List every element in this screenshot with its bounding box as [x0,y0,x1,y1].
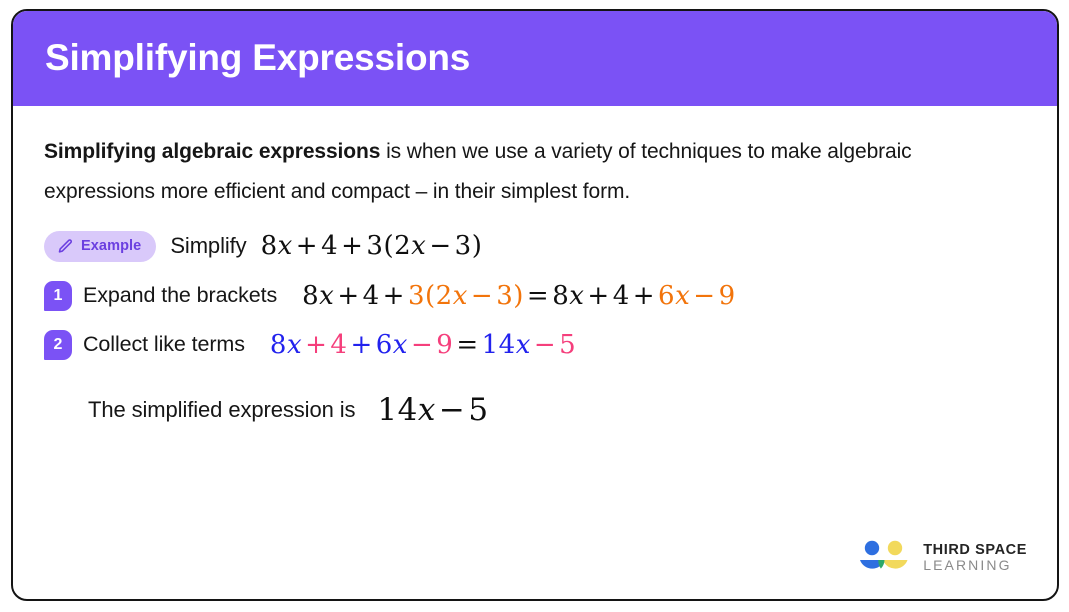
tok: x [287,330,302,360]
example-badge: Example [44,231,156,262]
tok: + [338,231,366,261]
tok: 8 [261,231,278,261]
tok: 3 [366,231,383,261]
logo-line-1: THIRD SPACE [923,542,1027,558]
tok: ( [383,231,394,261]
tok: 14 [482,330,516,360]
page-title: Simplifying Expressions [45,38,470,79]
conclusion-result: 14x−5 [377,392,488,428]
step-badge-2: 2 [44,330,72,360]
tok: 5 [468,392,488,428]
tok: − [468,281,496,311]
step-equation-1: 8x+4+3(2x−3)=8x+4+6x−9 [302,281,736,311]
tok: = [453,330,481,360]
example-prompt-label: Simplify [170,233,246,259]
tok: 3 [408,281,425,311]
conclusion-row: The simplified expression is 14x−5 [44,392,1027,428]
card-header: Simplifying Expressions [13,11,1057,106]
tok: x [516,330,531,360]
tok: x [675,281,690,311]
page-root: Simplifying Expressions Simplifying alge… [0,0,1069,612]
tok: + [302,330,330,360]
tok: 6 [376,330,393,360]
lesson-card: Simplifying Expressions Simplifying alge… [11,9,1059,601]
step-badge-1: 1 [44,281,72,311]
tok: x [393,330,408,360]
example-badge-label: Example [81,239,141,254]
tok: 6 [658,281,675,311]
step-row-2: 2 Collect like terms 8x+4+6x−9=14x−5 [44,330,1027,360]
logo-text: THIRD SPACE LEARNING [923,542,1027,574]
tok: − [531,330,559,360]
tok: 9 [436,330,453,360]
card-body: Simplifying algebraic expressions is whe… [13,106,1057,599]
brand-logo: THIRD SPACE LEARNING [857,539,1027,577]
tok: 8 [302,281,319,311]
tok: x [411,231,426,261]
tok: 4 [321,231,338,261]
tok: = [524,281,552,311]
tok: − [426,231,454,261]
tok: + [334,281,362,311]
intro-paragraph: Simplifying algebraic expressions is whe… [44,132,1024,213]
example-expression: 8x+4+3(2x−3) [261,231,483,261]
tok: 4 [363,281,380,311]
tok: 8 [552,281,569,311]
tok: − [690,281,718,311]
tok: 2 [436,281,453,311]
tok: x [569,281,584,311]
tok: + [584,281,612,311]
step-label-1: Expand the brackets [83,283,277,308]
tok: ( [425,281,436,311]
tok: x [453,281,468,311]
tok: x [418,392,436,428]
tok: 14 [377,392,417,428]
tok: − [408,330,436,360]
third-space-learning-logo-icon [857,539,913,577]
tok: 3 [455,231,472,261]
step-label-2: Collect like terms [83,332,245,357]
intro-bold-lead: Simplifying algebraic expressions [44,140,380,163]
tok: 8 [270,330,287,360]
step-equation-2: 8x+4+6x−9=14x−5 [270,330,576,360]
example-row: Example Simplify 8x+4+3(2x−3) [44,231,1027,262]
conclusion-label: The simplified expression is [88,397,355,423]
tok: 2 [394,231,411,261]
tok: − [436,392,468,428]
tok: 3 [496,281,513,311]
tok: x [278,231,293,261]
logo-line-2: LEARNING [923,558,1027,574]
tok: ) [513,281,524,311]
tok: x [319,281,334,311]
tok: + [630,281,658,311]
step-row-1: 1 Expand the brackets 8x+4+3(2x−3)=8x+4+… [44,281,1027,311]
tok: ) [472,231,483,261]
tok: 5 [559,330,576,360]
tok: 9 [719,281,736,311]
tok: + [293,231,321,261]
tok: + [380,281,408,311]
pencil-icon [57,238,74,255]
tok: + [347,330,375,360]
tok: 4 [613,281,630,311]
tok: 4 [330,330,347,360]
